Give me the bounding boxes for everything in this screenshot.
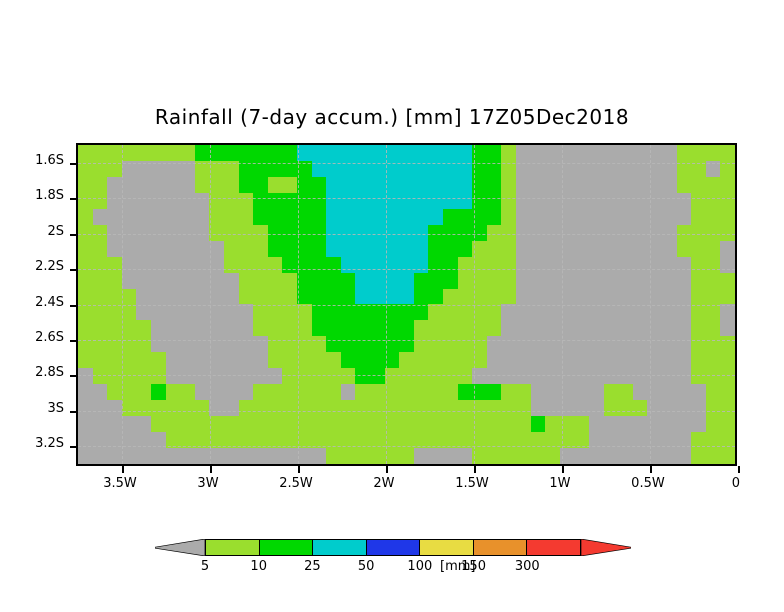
heatmap-cell [341, 336, 356, 352]
heatmap-cell [93, 352, 108, 368]
heatmap-cell [647, 304, 662, 320]
heatmap-cell [107, 416, 122, 432]
heatmap-cell [224, 320, 239, 336]
colorbar[interactable]: 5102550100150300 [155, 536, 655, 558]
heatmap-cell [180, 145, 195, 161]
heatmap-cell [574, 273, 589, 289]
heatmap-cell [312, 352, 327, 368]
heatmap-cell [618, 320, 633, 336]
x-axis-label: 1W [520, 476, 600, 491]
heatmap-cell [458, 384, 473, 400]
heatmap-cell [589, 193, 604, 209]
heatmap-cell [341, 193, 356, 209]
y-axis-tick [70, 446, 77, 448]
heatmap-cell [297, 241, 312, 257]
heatmap-cell [662, 161, 677, 177]
heatmap-cell [560, 241, 575, 257]
heatmap-cell [370, 257, 385, 273]
heatmap-cell [545, 257, 560, 273]
heatmap-cell [589, 336, 604, 352]
heatmap-cell [312, 304, 327, 320]
heatmap-cell [414, 193, 429, 209]
heatmap-cell [107, 368, 122, 384]
heatmap-cell [399, 304, 414, 320]
heatmap-cell [662, 273, 677, 289]
heatmap-cell [589, 273, 604, 289]
heatmap-cell [589, 352, 604, 368]
heatmap-cell [472, 241, 487, 257]
heatmap-cell [355, 241, 370, 257]
heatmap-cell [677, 448, 692, 464]
heatmap-cell [604, 400, 619, 416]
heatmap-cell [647, 352, 662, 368]
heatmap-cell [239, 193, 254, 209]
heatmap-cell [545, 273, 560, 289]
heatmap-cell [326, 177, 341, 193]
heatmap-cell [385, 368, 400, 384]
heatmap-cell [647, 257, 662, 273]
heatmap-cell [93, 273, 108, 289]
heatmap-cell [166, 352, 181, 368]
heatmap-cell [706, 193, 721, 209]
heatmap-cell [355, 384, 370, 400]
heatmap-cell [443, 416, 458, 432]
heatmap-cell [531, 304, 546, 320]
heatmap-cell [78, 145, 93, 161]
heatmap-cell [443, 432, 458, 448]
heatmap-cell [647, 400, 662, 416]
y-axis-label: 2.2S [0, 259, 64, 274]
heatmap-cell [604, 448, 619, 464]
heatmap-cell [443, 225, 458, 241]
heatmap-cell [589, 304, 604, 320]
heatmap-cell [487, 145, 502, 161]
heatmap-cell [195, 193, 210, 209]
heatmap-cell [516, 257, 531, 273]
heatmap-cell [122, 352, 137, 368]
heatmap-cell [385, 289, 400, 305]
heatmap-cell [326, 209, 341, 225]
heatmap-cell [326, 241, 341, 257]
heatmap-cell [341, 352, 356, 368]
heatmap-cell [501, 336, 516, 352]
heatmap-cell [487, 225, 502, 241]
heatmap-cell [545, 304, 560, 320]
x-axis-tick [474, 466, 476, 473]
heatmap-cell [122, 336, 137, 352]
heatmap-cell [239, 320, 254, 336]
heatmap-cell [136, 432, 151, 448]
heatmap-cell [326, 304, 341, 320]
heatmap-cell [151, 257, 166, 273]
heatmap-cell [326, 145, 341, 161]
heatmap-cell [239, 384, 254, 400]
heatmap-cell [589, 320, 604, 336]
heatmap-cell [355, 177, 370, 193]
y-axis-label: 3S [0, 401, 64, 416]
heatmap-cell [604, 336, 619, 352]
heatmap-cell [677, 177, 692, 193]
heatmap-cell [93, 289, 108, 305]
heatmap-cell [268, 193, 283, 209]
heatmap-cell [224, 400, 239, 416]
heatmap-cell [706, 209, 721, 225]
heatmap-cell [589, 225, 604, 241]
heatmap-cell [166, 432, 181, 448]
heatmap-cell [647, 161, 662, 177]
heatmap-cell [224, 241, 239, 257]
heatmap-cell [195, 257, 210, 273]
heatmap-cell [531, 273, 546, 289]
heatmap-cell [720, 225, 735, 241]
heatmap-cell [253, 145, 268, 161]
heatmap-cell [253, 241, 268, 257]
heatmap-cell [428, 193, 443, 209]
heatmap-cell [297, 304, 312, 320]
heatmap-cell [677, 209, 692, 225]
heatmap-cell [633, 289, 648, 305]
x-axis-label: 2W [344, 476, 424, 491]
heatmap-cell [691, 225, 706, 241]
heatmap-cell [691, 304, 706, 320]
heatmap-cell [574, 161, 589, 177]
heatmap-cell [326, 400, 341, 416]
x-axis-tick [650, 466, 652, 473]
heatmap-cell [239, 273, 254, 289]
heatmap-cell [516, 289, 531, 305]
heatmap-cell [107, 241, 122, 257]
heatmap-cell [677, 289, 692, 305]
heatmap-cell [662, 193, 677, 209]
heatmap-cell [399, 448, 414, 464]
heatmap-cell [370, 320, 385, 336]
heatmap-cell [268, 177, 283, 193]
colorbar-tick-label: 10 [250, 559, 267, 574]
heatmap-cell [472, 400, 487, 416]
heatmap-cell [370, 400, 385, 416]
heatmap-cell [312, 320, 327, 336]
heatmap-cell [209, 241, 224, 257]
heatmap-cell [720, 432, 735, 448]
heatmap-cell [282, 400, 297, 416]
heatmap-cell [516, 432, 531, 448]
heatmap-cell [443, 368, 458, 384]
heatmap-cell [516, 241, 531, 257]
y-axis-tick [70, 411, 77, 413]
heatmap-cell [195, 432, 210, 448]
heatmap-cell [195, 145, 210, 161]
heatmap-cell [633, 209, 648, 225]
heatmap-cell [720, 384, 735, 400]
heatmap-cell [633, 241, 648, 257]
heatmap-cell [633, 225, 648, 241]
heatmap-cell [282, 352, 297, 368]
heatmap-cell [691, 400, 706, 416]
heatmap-cell [355, 416, 370, 432]
heatmap-cell [487, 289, 502, 305]
heatmap-cell [720, 320, 735, 336]
heatmap-cell [647, 273, 662, 289]
heatmap-cell [720, 289, 735, 305]
heatmap-cell [122, 225, 137, 241]
heatmap-cell [428, 400, 443, 416]
heatmap-cell [209, 209, 224, 225]
heatmap-cell [224, 336, 239, 352]
heatmap-cell [136, 177, 151, 193]
heatmap-cell [691, 448, 706, 464]
plot-area[interactable] [76, 143, 737, 466]
heatmap-cell [107, 336, 122, 352]
heatmap-cell [122, 304, 137, 320]
heatmap-cell [647, 289, 662, 305]
heatmap-cell [180, 448, 195, 464]
heatmap-cell [399, 336, 414, 352]
heatmap-cell [414, 209, 429, 225]
heatmap-cell [647, 225, 662, 241]
heatmap-cell [691, 177, 706, 193]
heatmap-cell [166, 257, 181, 273]
heatmap-cell [253, 416, 268, 432]
heatmap-cell [414, 416, 429, 432]
heatmap-cell [136, 416, 151, 432]
heatmap-cell [78, 432, 93, 448]
heatmap-cell [545, 289, 560, 305]
heatmap-cell [385, 225, 400, 241]
y-axis-label: 1.6S [0, 153, 64, 168]
heatmap-cell [282, 161, 297, 177]
heatmap-cell [399, 432, 414, 448]
heatmap-cell [487, 241, 502, 257]
heatmap-cell [604, 320, 619, 336]
heatmap-cell [268, 320, 283, 336]
heatmap-cell [297, 352, 312, 368]
heatmap-cell [501, 304, 516, 320]
heatmap-cell [166, 161, 181, 177]
heatmap-cell [618, 336, 633, 352]
heatmap-cell [618, 177, 633, 193]
heatmap-cell [78, 400, 93, 416]
heatmap-cell [589, 448, 604, 464]
heatmap-cell [677, 320, 692, 336]
heatmap-cell [662, 448, 677, 464]
heatmap-cell [647, 384, 662, 400]
heatmap-cell [195, 304, 210, 320]
colorbar-band [260, 540, 314, 555]
heatmap-cell [604, 384, 619, 400]
heatmap-cell [180, 241, 195, 257]
heatmap-cell [560, 145, 575, 161]
heatmap-cell [385, 177, 400, 193]
heatmap-cell [78, 273, 93, 289]
heatmap-cell [691, 273, 706, 289]
heatmap-cell [78, 161, 93, 177]
heatmap-cell [312, 257, 327, 273]
heatmap-cell [253, 161, 268, 177]
heatmap-cell [487, 336, 502, 352]
heatmap-cell [122, 384, 137, 400]
heatmap-cell [180, 289, 195, 305]
heatmap-cell [136, 304, 151, 320]
heatmap-cell [253, 400, 268, 416]
heatmap-cell [414, 384, 429, 400]
chart-title: Rainfall (7-day accum.) [mm] 17Z05Dec201… [0, 105, 784, 129]
heatmap-cell [720, 416, 735, 432]
heatmap-cell [195, 273, 210, 289]
heatmap-cell [341, 257, 356, 273]
heatmap-cell [78, 209, 93, 225]
heatmap-cell [341, 416, 356, 432]
heatmap-cell [224, 273, 239, 289]
heatmap-cell [501, 384, 516, 400]
heatmap-cell [428, 448, 443, 464]
heatmap-cell [677, 193, 692, 209]
heatmap-cell [136, 352, 151, 368]
heatmap-cell [428, 432, 443, 448]
heatmap-cell [195, 289, 210, 305]
heatmap-cell [166, 416, 181, 432]
heatmap-cell [487, 257, 502, 273]
heatmap-cell [589, 400, 604, 416]
heatmap-cell [224, 161, 239, 177]
heatmap-cell [341, 161, 356, 177]
heatmap-cell [180, 320, 195, 336]
heatmap-cell [414, 304, 429, 320]
heatmap-cell [312, 241, 327, 257]
heatmap-cell [458, 448, 473, 464]
heatmap-cell [78, 241, 93, 257]
y-axis-label: 2.6S [0, 330, 64, 345]
heatmap-cell [297, 289, 312, 305]
heatmap-cell [93, 177, 108, 193]
heatmap-cell [268, 145, 283, 161]
heatmap-cell [326, 225, 341, 241]
heatmap-cell [107, 432, 122, 448]
heatmap-cell [560, 177, 575, 193]
heatmap-cell [297, 448, 312, 464]
heatmap-cell [531, 257, 546, 273]
heatmap-cell [312, 384, 327, 400]
heatmap-cell [253, 273, 268, 289]
heatmap-cell [706, 241, 721, 257]
heatmap-cell [545, 336, 560, 352]
heatmap-cell [501, 257, 516, 273]
heatmap-cell [151, 273, 166, 289]
heatmap-cell [195, 161, 210, 177]
heatmap-cell [618, 257, 633, 273]
heatmap-cell [136, 368, 151, 384]
heatmap-cell [545, 193, 560, 209]
heatmap-cell [677, 400, 692, 416]
heatmap-cell [414, 161, 429, 177]
heatmap-cell [122, 289, 137, 305]
heatmap-cell [224, 432, 239, 448]
heatmap-cell [370, 368, 385, 384]
heatmap-cell [268, 289, 283, 305]
heatmap-cell [458, 193, 473, 209]
heatmap-cell [151, 161, 166, 177]
heatmap-cell [107, 273, 122, 289]
heatmap-cell [428, 209, 443, 225]
heatmap-cell [107, 257, 122, 273]
heatmap-cell [560, 304, 575, 320]
heatmap-cell [516, 448, 531, 464]
heatmap-cell [268, 384, 283, 400]
heatmap-cell [414, 145, 429, 161]
heatmap-cell [414, 177, 429, 193]
heatmap-cell [195, 384, 210, 400]
heatmap-cell [151, 193, 166, 209]
heatmap-cell [253, 257, 268, 273]
heatmap-cell [691, 320, 706, 336]
y-axis-tick [70, 269, 77, 271]
heatmap-cell [428, 145, 443, 161]
x-axis-label: 3W [168, 476, 248, 491]
heatmap-cell [370, 416, 385, 432]
heatmap-cell [107, 304, 122, 320]
heatmap-cell [385, 304, 400, 320]
heatmap-cell [618, 368, 633, 384]
heatmap-cell [253, 177, 268, 193]
heatmap-cell [443, 273, 458, 289]
heatmap-cell [107, 400, 122, 416]
x-axis-tick [210, 466, 212, 473]
heatmap-cell [180, 161, 195, 177]
heatmap-cell [618, 400, 633, 416]
heatmap-cell [574, 304, 589, 320]
heatmap-cell [195, 416, 210, 432]
heatmap-cell [706, 400, 721, 416]
heatmap-cell [312, 336, 327, 352]
heatmap-cell [720, 257, 735, 273]
heatmap-cell [93, 336, 108, 352]
heatmap-cell [633, 368, 648, 384]
heatmap-cell [355, 336, 370, 352]
heatmap-cell [151, 432, 166, 448]
heatmap-cell [516, 304, 531, 320]
heatmap-cell [136, 193, 151, 209]
heatmap-cell [136, 320, 151, 336]
heatmap-cell [633, 400, 648, 416]
heatmap-cell [472, 193, 487, 209]
heatmap-cell [443, 384, 458, 400]
heatmap-cell [560, 416, 575, 432]
heatmap-cell [93, 161, 108, 177]
heatmap-cell [399, 241, 414, 257]
heatmap-cell [282, 304, 297, 320]
heatmap-cell [516, 161, 531, 177]
heatmap-cell [677, 432, 692, 448]
heatmap-cell [122, 161, 137, 177]
heatmap-cell [239, 225, 254, 241]
heatmap-cell [662, 352, 677, 368]
heatmap-cell [662, 336, 677, 352]
heatmap-cell [647, 241, 662, 257]
heatmap-cell [195, 225, 210, 241]
heatmap-cell [574, 400, 589, 416]
heatmap-cell [574, 320, 589, 336]
heatmap-cell [180, 257, 195, 273]
heatmap-cell [399, 320, 414, 336]
heatmap-cell [78, 336, 93, 352]
heatmap-cell [414, 352, 429, 368]
heatmap-cell [560, 320, 575, 336]
heatmap-cell [706, 432, 721, 448]
heatmap-cell [268, 304, 283, 320]
heatmap-cell [706, 161, 721, 177]
heatmap-cell [93, 209, 108, 225]
heatmap-cell [209, 320, 224, 336]
heatmap-cell [268, 400, 283, 416]
